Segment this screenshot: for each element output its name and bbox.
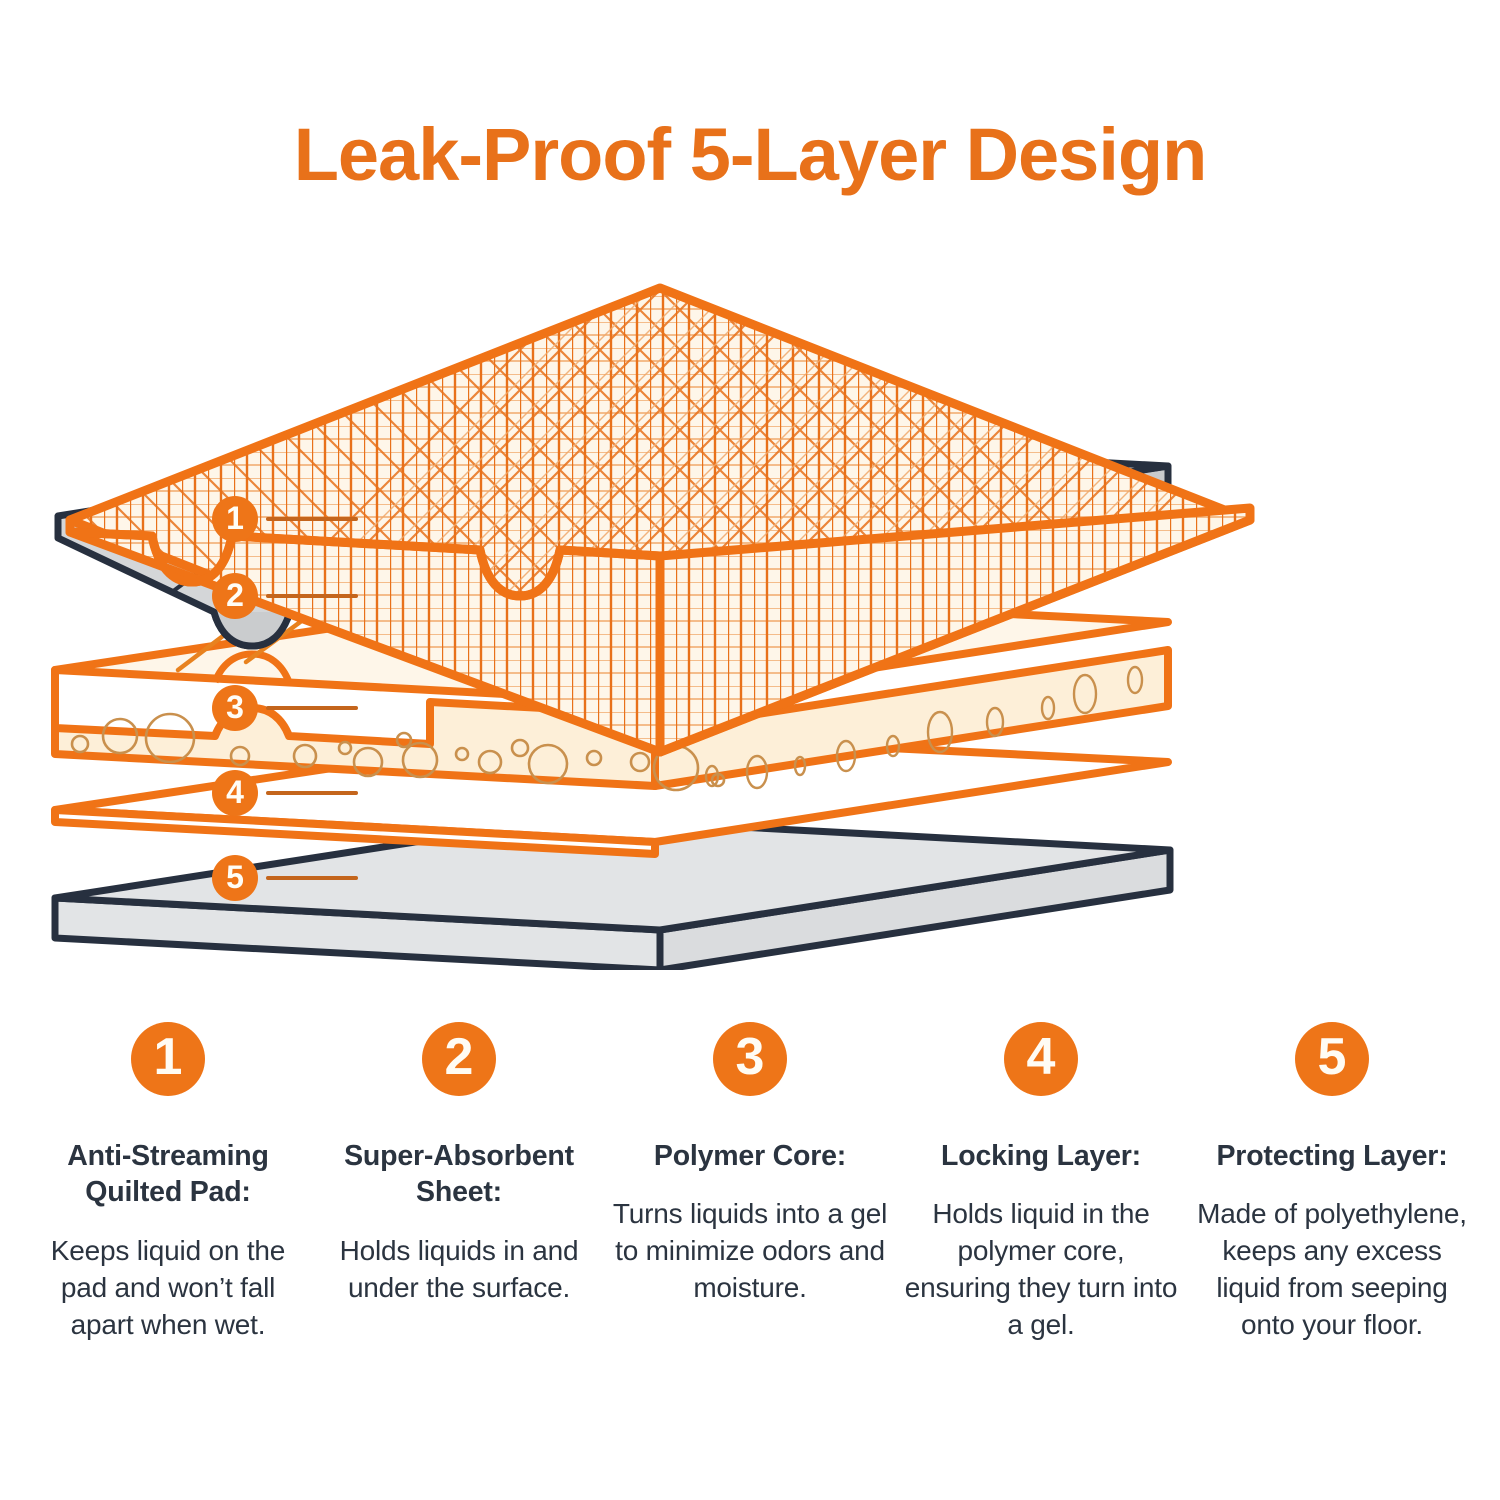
- callout-leader-line: [266, 706, 358, 710]
- column-badge-number: 3: [713, 1022, 787, 1096]
- column-body: Made of polyethylene, keeps any excess l…: [1194, 1196, 1470, 1344]
- callout-badge-number: 5: [212, 855, 258, 901]
- column-title: Locking Layer:: [941, 1138, 1141, 1174]
- column-title: Polymer Core:: [654, 1138, 846, 1174]
- callout-badge-number: 3: [212, 685, 258, 731]
- column-body: Holds liquids in and under the surface.: [321, 1233, 597, 1307]
- diagram-callout-5: 5: [212, 855, 358, 901]
- column-body: Turns liquids into a gel to minimize odo…: [612, 1196, 888, 1307]
- callout-leader-line: [266, 876, 358, 880]
- layer-column-5: 5 Protecting Layer: Made of polyethylene…: [1194, 1022, 1470, 1344]
- diagram-callout-2: 2: [212, 573, 358, 619]
- column-badge-number: 1: [131, 1022, 205, 1096]
- layer-column-3: 3 Polymer Core: Turns liquids into a gel…: [612, 1022, 888, 1307]
- layer-column-1: 1 Anti-Streaming Quilted Pad: Keeps liqu…: [30, 1022, 306, 1344]
- layer-description-columns: 1 Anti-Streaming Quilted Pad: Keeps liqu…: [30, 1022, 1470, 1344]
- diagram-callout-3: 3: [212, 685, 358, 731]
- column-body: Keeps liquid on the pad and won’t fall a…: [30, 1233, 306, 1344]
- callout-badge-number: 1: [212, 496, 258, 542]
- diagram-callout-1: 1: [212, 496, 358, 542]
- column-badge-number: 5: [1295, 1022, 1369, 1096]
- layer-column-4: 4 Locking Layer: Holds liquid in the pol…: [903, 1022, 1179, 1344]
- column-body: Holds liquid in the polymer core, ensuri…: [903, 1196, 1179, 1344]
- callout-leader-line: [266, 791, 358, 795]
- callout-badge-number: 2: [212, 573, 258, 619]
- column-badge-number: 2: [422, 1022, 496, 1096]
- diagram-callout-4: 4: [212, 770, 358, 816]
- page-title: Leak-Proof 5-Layer Design: [0, 116, 1500, 194]
- column-title: Anti-Streaming Quilted Pad:: [30, 1138, 306, 1211]
- callout-leader-line: [266, 517, 358, 521]
- callout-badge-number: 4: [212, 770, 258, 816]
- column-badge-number: 4: [1004, 1022, 1078, 1096]
- layer-column-2: 2 Super-Absorbent Sheet: Holds liquids i…: [321, 1022, 597, 1307]
- layer-stack-diagram: 1 2 3 4 5: [0, 270, 1500, 970]
- callout-leader-line: [266, 594, 358, 598]
- column-title: Super-Absorbent Sheet:: [321, 1138, 597, 1211]
- column-title: Protecting Layer:: [1217, 1138, 1448, 1174]
- infographic-page: Leak-Proof 5-Layer Design: [0, 0, 1500, 1500]
